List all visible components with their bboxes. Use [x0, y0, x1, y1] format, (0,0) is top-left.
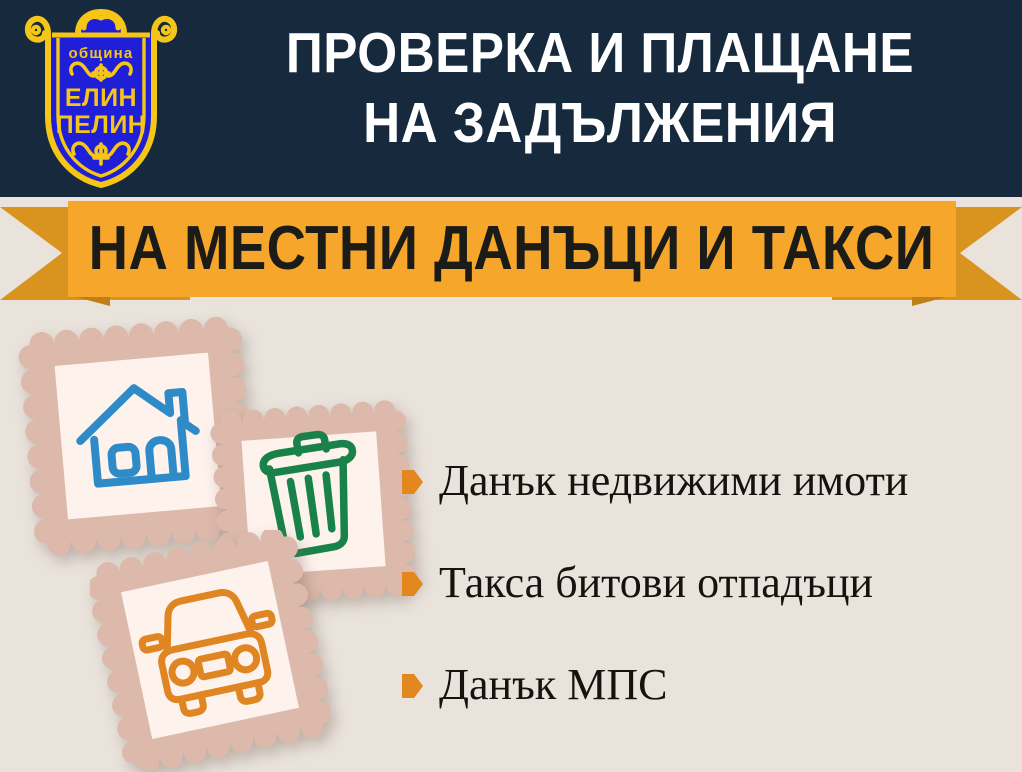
municipality-crest-logo: община ЕЛИН ПЕЛИН	[22, 8, 180, 191]
page-title: ПРОВЕРКА И ПЛАЩАНЕ НА ЗАДЪЛЖЕНИЯ	[231, 18, 969, 158]
ribbon-main-panel: НА МЕСТНИ ДАНЪЦИ И ТАКСИ	[68, 201, 956, 297]
list-item[interactable]: Данък МПС	[402, 634, 1012, 736]
list-item[interactable]: Такса битови отпадъци	[402, 532, 1012, 634]
crest-obshtina-text: община	[69, 45, 134, 62]
stamp-paper-inner	[55, 353, 222, 520]
arrow-bullet-icon	[402, 470, 423, 494]
subtitle-ribbon: НА МЕСТНИ ДАНЪЦИ И ТАКСИ	[0, 196, 1022, 306]
stamp-card-vehicle	[90, 530, 330, 770]
page-title-line-2: НА ЗАДЪЛЖЕНИЯ	[231, 88, 969, 158]
list-item-label: Данък недвижими имоти	[439, 457, 908, 505]
ribbon-subtitle-text: НА МЕСТНИ ДАНЪЦИ И ТАКСИ	[89, 218, 935, 280]
crest-name-line2: ПЕЛИН	[56, 111, 147, 139]
header-inner: община ЕЛИН ПЕЛИН	[0, 0, 1022, 197]
list-item-label: Данък МПС	[439, 661, 667, 709]
poster-canvas: община ЕЛИН ПЕЛИН	[0, 0, 1022, 772]
list-item-label: Такса битови отпадъци	[439, 559, 873, 607]
list-item[interactable]: Данък недвижими имоти	[402, 430, 1012, 532]
arrow-bullet-icon	[402, 674, 423, 698]
tax-type-list: Данък недвижими имоти Такса битови отпад…	[402, 430, 1012, 736]
crest-name-line1: ЕЛИН	[65, 84, 137, 112]
page-title-line-1: ПРОВЕРКА И ПЛАЩАНЕ	[231, 18, 969, 88]
header-banner: община ЕЛИН ПЕЛИН	[0, 0, 1022, 197]
arrow-bullet-icon	[402, 572, 423, 596]
